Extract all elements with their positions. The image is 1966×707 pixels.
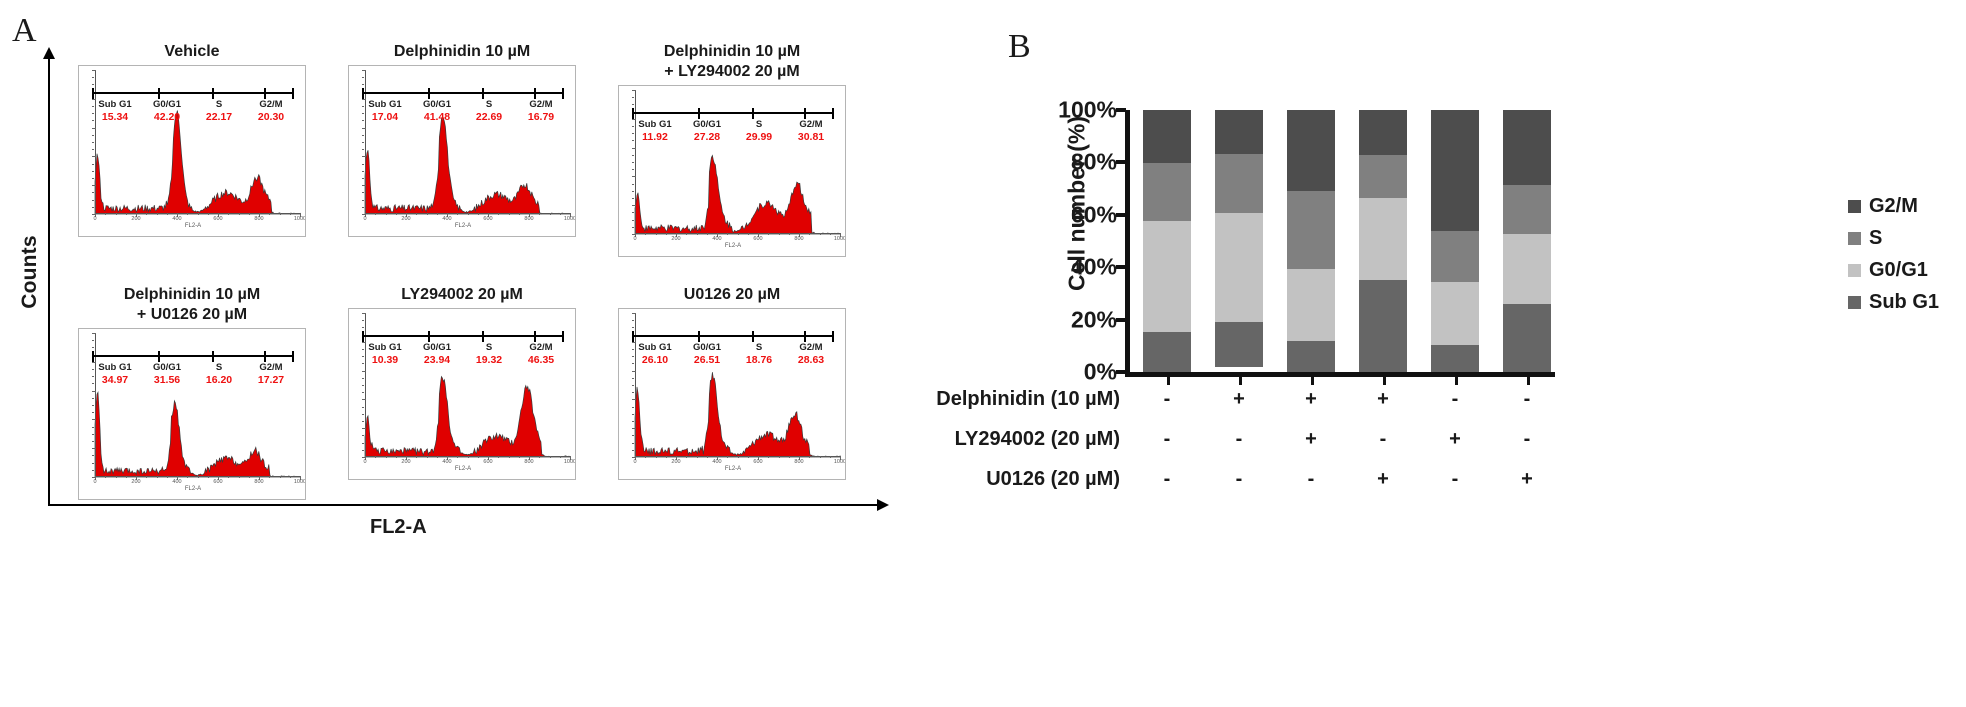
- y-minor-tick: [92, 463, 94, 464]
- bar-segment-g2-m: [1287, 110, 1335, 191]
- gate-value-row: 11.9227.2829.9930.81: [629, 131, 837, 143]
- y-minor-tick: [92, 142, 94, 143]
- histogram-title: Vehicle: [78, 42, 306, 62]
- legend-swatch-icon: [1848, 200, 1861, 213]
- gate-percentage: 16.20: [193, 374, 245, 386]
- gate-value-row: 17.0441.4822.6916.79: [359, 111, 567, 123]
- x-tick-label: 800: [794, 236, 803, 242]
- treatment-cell: -: [1143, 468, 1191, 491]
- y-axis-tick-label: 60%: [1071, 201, 1117, 228]
- stacked-bar[interactable]: [1143, 110, 1191, 372]
- y-minor-tick: [362, 450, 364, 451]
- y-minor-tick: [92, 171, 94, 172]
- bar-segment-sub-g1: [1431, 345, 1479, 372]
- bar-segment-sub-g1: [1143, 332, 1191, 372]
- gate-tick: [534, 88, 536, 99]
- y-minor-tick: [632, 378, 634, 379]
- y-axis-tick-label: 0%: [1084, 359, 1117, 386]
- x-minor-tick: [105, 476, 106, 478]
- y-minor-tick: [92, 135, 94, 136]
- gate-tick: [292, 351, 294, 362]
- stacked-bar[interactable]: [1503, 110, 1551, 372]
- inner-x-axis-title: FL2-A: [349, 466, 576, 472]
- treatment-cell: -: [1287, 468, 1335, 491]
- gate-ruler: [633, 108, 833, 117]
- x-minor-tick: [509, 456, 510, 458]
- histogram-plot: Sub G1G0/G1SG2/M10.3923.9419.3246.351008…: [348, 308, 576, 480]
- x-minor-tick: [228, 476, 229, 478]
- y-minor-tick: [362, 414, 364, 415]
- treatment-row-label: Delphinidin (10 µM): [890, 388, 1120, 411]
- x-tick-label: 1000: [564, 216, 576, 222]
- stacked-bar[interactable]: [1287, 110, 1335, 372]
- gate-tick: [804, 331, 806, 342]
- y-minor-tick: [632, 104, 634, 105]
- fl2a-axis-label: FL2-A: [370, 516, 427, 539]
- y-axis-tick-label: 20%: [1071, 306, 1117, 333]
- x-minor-tick: [249, 213, 250, 215]
- y-minor-tick: [362, 428, 366, 429]
- gate-label: G2/M: [785, 119, 837, 130]
- x-minor-tick: [666, 233, 667, 235]
- y-minor-tick: [92, 77, 94, 78]
- x-minor-tick: [519, 213, 520, 215]
- bar-segment-g0-g1: [1359, 198, 1407, 281]
- y-minor-tick: [632, 450, 634, 451]
- x-minor-tick: [509, 213, 510, 215]
- x-minor-tick: [779, 456, 780, 458]
- gate-percentage: 22.17: [193, 111, 245, 123]
- x-minor-tick: [239, 476, 240, 478]
- gate-ruler-line: [93, 355, 293, 357]
- treatment-cell: -: [1215, 428, 1263, 451]
- gate-ruler-line: [633, 335, 833, 337]
- y-minor-tick: [362, 200, 364, 201]
- histogram-title: Delphinidin 10 µM: [348, 42, 576, 62]
- x-tick-label: 0: [363, 216, 366, 222]
- x-tick-label: 200: [131, 216, 140, 222]
- y-minor-tick: [92, 149, 94, 150]
- y-minor-tick: [362, 407, 364, 408]
- histogram-panel: VehicleSub G1G0/G1SG2/M15.3442.2022.1720…: [78, 42, 306, 237]
- x-minor-tick: [768, 456, 769, 458]
- y-minor-tick: [632, 457, 636, 458]
- y-axis-tick: [1116, 318, 1126, 322]
- y-tick-label: 0: [348, 217, 350, 220]
- gate-label: G0/G1: [141, 362, 193, 373]
- x-minor-tick: [779, 233, 780, 235]
- x-tick-label: 600: [213, 216, 222, 222]
- bar-segment-g2-m: [1503, 110, 1551, 185]
- x-minor-tick: [468, 456, 469, 458]
- x-tick-label: 600: [753, 236, 762, 242]
- x-minor-tick: [187, 476, 188, 478]
- gate-percentage: 29.99: [733, 131, 785, 143]
- x-tick-label: 1000: [834, 459, 846, 465]
- x-tick-label: 1000: [294, 479, 306, 485]
- y-axis-tick: [1116, 160, 1126, 164]
- x-minor-tick: [820, 233, 821, 235]
- bar-segment-g0-g1: [1287, 269, 1335, 340]
- gate-ruler: [93, 351, 293, 360]
- y-minor-tick: [632, 371, 636, 372]
- y-minor-tick: [92, 214, 96, 215]
- bar-segment-s: [1359, 155, 1407, 197]
- legend-swatch-icon: [1848, 264, 1861, 277]
- x-tick-label: 1000: [834, 236, 846, 242]
- gate-label: S: [733, 342, 785, 353]
- x-axis-tick: [1167, 377, 1170, 385]
- x-minor-tick: [198, 213, 199, 215]
- y-tick-label: 100: [348, 316, 350, 324]
- gate-tick: [632, 331, 634, 342]
- x-tick-label: 200: [401, 216, 410, 222]
- x-minor-tick: [116, 213, 117, 215]
- y-minor-tick: [92, 128, 96, 129]
- y-minor-tick: [632, 428, 636, 429]
- x-minor-tick: [809, 456, 810, 458]
- x-tick-label: 0: [93, 479, 96, 485]
- counts-axis-label: Counts: [18, 222, 42, 322]
- gate-tick: [158, 351, 160, 362]
- x-tick-label: 800: [524, 459, 533, 465]
- x-minor-tick: [457, 213, 458, 215]
- x-tick-label: 400: [442, 216, 451, 222]
- x-tick-label: 1000: [564, 459, 576, 465]
- gate-label: G2/M: [245, 362, 297, 373]
- y-minor-tick: [632, 313, 636, 314]
- bar-segment-g2-m: [1359, 110, 1407, 155]
- y-minor-tick: [632, 97, 634, 98]
- x-minor-tick: [748, 233, 749, 235]
- treatment-cell: +: [1503, 468, 1551, 491]
- x-minor-tick: [269, 213, 270, 215]
- x-minor-tick: [686, 233, 687, 235]
- gate-percentage: 42.20: [141, 111, 193, 123]
- x-minor-tick: [146, 213, 147, 215]
- x-minor-tick: [738, 233, 739, 235]
- y-minor-tick: [632, 212, 634, 213]
- legend-label: G2/M: [1869, 195, 1918, 218]
- gate-name-row: Sub G1G0/G1SG2/M: [359, 99, 567, 110]
- legend-swatch-icon: [1848, 296, 1861, 309]
- y-minor-tick: [92, 470, 94, 471]
- legend-label: G0/G1: [1869, 259, 1928, 282]
- x-minor-tick: [386, 456, 387, 458]
- y-minor-tick: [92, 207, 94, 208]
- y-tick-label: 100: [618, 93, 620, 101]
- legend-item: G0/G1: [1848, 259, 1939, 282]
- stacked-bar-plot: 100%80%60%40%20%0%: [1125, 110, 1555, 372]
- gate-percentage: 28.63: [785, 354, 837, 366]
- y-minor-tick: [92, 427, 94, 428]
- x-minor-tick: [167, 476, 168, 478]
- gate-tick: [428, 331, 430, 342]
- gate-tick: [698, 331, 700, 342]
- bar-segment-g2-m: [1431, 110, 1479, 231]
- x-tick-label: 400: [712, 236, 721, 242]
- gate-name-row: Sub G1G0/G1SG2/M: [629, 119, 837, 130]
- y-tick-label: 0: [618, 237, 620, 240]
- gate-label: G0/G1: [141, 99, 193, 110]
- y-minor-tick: [92, 419, 96, 420]
- gate-percentage: 10.39: [359, 354, 411, 366]
- gate-tick: [482, 331, 484, 342]
- y-minor-tick: [92, 391, 96, 392]
- x-tick-label: 600: [213, 479, 222, 485]
- y-minor-tick: [362, 385, 364, 386]
- x-tick-label: 400: [442, 459, 451, 465]
- y-axis-tick: [1116, 265, 1126, 269]
- x-minor-tick: [707, 233, 708, 235]
- x-minor-tick: [768, 233, 769, 235]
- gate-percentage: 34.97: [89, 374, 141, 386]
- y-minor-tick: [92, 340, 94, 341]
- y-minor-tick: [362, 135, 364, 136]
- gate-tick: [482, 88, 484, 99]
- x-tick-label: 800: [254, 216, 263, 222]
- gate-label: G0/G1: [681, 342, 733, 353]
- gate-label: S: [463, 99, 515, 110]
- x-minor-tick: [126, 476, 127, 478]
- bar-segment-g0-g1: [1431, 282, 1479, 345]
- x-tick-label: 1000: [294, 216, 306, 222]
- gate-ruler-line: [363, 92, 563, 94]
- bar-segment-g0-g1: [1215, 213, 1263, 322]
- treatment-cell: -: [1431, 468, 1479, 491]
- legend-swatch-icon: [1848, 232, 1861, 245]
- x-minor-tick: [280, 213, 281, 215]
- y-minor-tick: [632, 184, 634, 185]
- x-minor-tick: [789, 233, 790, 235]
- y-minor-tick: [92, 70, 96, 71]
- y-minor-tick: [632, 327, 634, 328]
- gate-label: G0/G1: [681, 119, 733, 130]
- bar-segment-s: [1287, 191, 1335, 270]
- y-minor-tick: [362, 371, 366, 372]
- gate-tick: [362, 331, 364, 342]
- x-minor-tick: [498, 213, 499, 215]
- legend-item: Sub G1: [1848, 291, 1939, 314]
- gate-name-row: Sub G1G0/G1SG2/M: [359, 342, 567, 353]
- gate-percentage: 27.28: [681, 131, 733, 143]
- y-minor-tick: [632, 385, 634, 386]
- x-minor-tick: [157, 476, 158, 478]
- x-minor-tick: [707, 456, 708, 458]
- gate-tick: [292, 88, 294, 99]
- counts-axis-arrow: [48, 58, 50, 506]
- y-minor-tick: [362, 171, 364, 172]
- gate-tick: [92, 88, 94, 99]
- gate-tick: [158, 88, 160, 99]
- y-tick-label: 0: [618, 460, 620, 463]
- gate-percentage: 41.48: [411, 111, 463, 123]
- y-tick-label: 100: [78, 73, 80, 81]
- y-minor-tick: [92, 164, 94, 165]
- gate-label: S: [193, 99, 245, 110]
- y-minor-tick: [362, 70, 366, 71]
- panel-b-bar-chart: Cell number (%) 100%80%60%40%20%0%: [1000, 0, 1966, 707]
- x-tick-label: 400: [172, 216, 181, 222]
- y-minor-tick: [362, 214, 366, 215]
- stacked-bar[interactable]: [1359, 110, 1407, 372]
- inner-x-axis-title: FL2-A: [619, 243, 846, 249]
- treatment-cell: +: [1287, 428, 1335, 451]
- y-minor-tick: [92, 448, 96, 449]
- histogram-title: Delphinidin 10 µM + LY294002 20 µM: [618, 42, 846, 82]
- x-tick-label: 800: [524, 216, 533, 222]
- y-minor-tick: [632, 399, 636, 400]
- x-minor-tick: [697, 456, 698, 458]
- x-tick-label: 200: [401, 459, 410, 465]
- treatment-cell: +: [1431, 428, 1479, 451]
- treatment-cell: -: [1143, 388, 1191, 411]
- x-minor-tick: [560, 456, 561, 458]
- gate-label: G0/G1: [411, 342, 463, 353]
- y-minor-tick: [362, 178, 364, 179]
- x-minor-tick: [375, 213, 376, 215]
- y-minor-tick: [362, 192, 364, 193]
- y-minor-tick: [362, 392, 364, 393]
- x-minor-tick: [478, 456, 479, 458]
- y-minor-tick: [632, 407, 634, 408]
- y-minor-tick: [632, 421, 634, 422]
- gate-tick: [264, 88, 266, 99]
- gate-label: S: [463, 342, 515, 353]
- y-minor-tick: [632, 198, 634, 199]
- y-minor-tick: [362, 399, 366, 400]
- y-minor-tick: [632, 414, 634, 415]
- y-minor-tick: [362, 443, 364, 444]
- legend-label: Sub G1: [1869, 291, 1939, 314]
- histogram-panel: Delphinidin 10 µM + U0126 20 µMSub G1G0/…: [78, 285, 306, 500]
- x-minor-tick: [167, 213, 168, 215]
- y-minor-tick: [92, 398, 94, 399]
- x-tick-label: 0: [633, 459, 636, 465]
- x-minor-tick: [157, 213, 158, 215]
- treatment-cell: -: [1143, 428, 1191, 451]
- gate-label: G2/M: [245, 99, 297, 110]
- bar-segment-g2-m: [1215, 110, 1263, 154]
- y-minor-tick: [362, 378, 364, 379]
- treatment-cell: -: [1503, 388, 1551, 411]
- x-tick-label: 0: [363, 459, 366, 465]
- histogram-title: U0126 20 µM: [618, 285, 846, 305]
- y-tick-label: 100: [618, 316, 620, 324]
- treatment-row-label: LY294002 (20 µM): [890, 428, 1120, 451]
- gate-percentage: 20.30: [245, 111, 297, 123]
- gate-tick: [92, 351, 94, 362]
- x-axis-tick: [1239, 377, 1242, 385]
- y-minor-tick: [632, 234, 636, 235]
- gate-percentage: 30.81: [785, 131, 837, 143]
- gate-percentage: 46.35: [515, 354, 567, 366]
- gate-tick: [362, 88, 364, 99]
- gate-ruler-line: [633, 112, 833, 114]
- x-minor-tick: [290, 213, 291, 215]
- y-minor-tick: [362, 77, 364, 78]
- x-minor-tick: [519, 456, 520, 458]
- y-minor-tick: [632, 220, 634, 221]
- legend-label: S: [1869, 227, 1882, 250]
- treatment-cell: +: [1215, 388, 1263, 411]
- inner-x-axis-title: FL2-A: [79, 486, 306, 492]
- y-tick-label: 0: [78, 217, 80, 220]
- y-minor-tick: [632, 191, 634, 192]
- y-minor-tick: [362, 457, 366, 458]
- y-minor-tick: [362, 421, 364, 422]
- x-minor-tick: [550, 213, 551, 215]
- y-tick-label: 0: [78, 480, 80, 483]
- bar-segment-sub-g1: [1215, 322, 1263, 367]
- gate-percentage: 23.94: [411, 354, 463, 366]
- treatment-cell: +: [1287, 388, 1335, 411]
- bar-segment-sub-g1: [1503, 304, 1551, 372]
- gate-label: G2/M: [515, 99, 567, 110]
- gate-percentage: 17.04: [359, 111, 411, 123]
- histogram-panel: Delphinidin 10 µMSub G1G0/G1SG2/M17.0441…: [348, 42, 576, 237]
- x-tick-label: 0: [93, 216, 96, 222]
- x-minor-tick: [550, 456, 551, 458]
- gate-tick: [562, 331, 564, 342]
- x-axis-tick: [1383, 377, 1386, 385]
- x-minor-tick: [416, 456, 417, 458]
- gate-label: G0/G1: [411, 99, 463, 110]
- gate-label: Sub G1: [89, 99, 141, 110]
- y-minor-tick: [92, 333, 96, 334]
- gate-tick: [428, 88, 430, 99]
- treatment-cell: -: [1215, 468, 1263, 491]
- x-minor-tick: [427, 456, 428, 458]
- x-minor-tick: [290, 476, 291, 478]
- gate-tick: [264, 351, 266, 362]
- legend-item: G2/M: [1848, 195, 1939, 218]
- y-minor-tick: [92, 200, 94, 201]
- inner-x-axis-title: FL2-A: [349, 223, 576, 229]
- x-tick-label: 600: [753, 459, 762, 465]
- treatment-cell: -: [1359, 428, 1407, 451]
- y-axis-tick-label: 40%: [1071, 254, 1117, 281]
- stacked-bar[interactable]: [1215, 110, 1263, 372]
- gate-tick: [698, 108, 700, 119]
- x-axis-tick: [1455, 377, 1458, 385]
- x-minor-tick: [437, 213, 438, 215]
- x-minor-tick: [208, 476, 209, 478]
- y-axis-tick: [1116, 108, 1126, 112]
- treatment-cell: -: [1503, 428, 1551, 451]
- gate-percentage: 31.56: [141, 374, 193, 386]
- treatment-cell: +: [1359, 468, 1407, 491]
- inner-x-axis-title: FL2-A: [619, 466, 846, 472]
- y-minor-tick: [632, 320, 634, 321]
- y-minor-tick: [92, 405, 94, 406]
- legend-item: S: [1848, 227, 1939, 250]
- x-axis-line: [1125, 372, 1555, 377]
- stacked-bar[interactable]: [1431, 110, 1479, 372]
- x-tick-label: 800: [254, 479, 263, 485]
- x-tick-label: 200: [671, 236, 680, 242]
- y-minor-tick: [362, 327, 364, 328]
- x-minor-tick: [375, 456, 376, 458]
- y-minor-tick: [362, 313, 366, 314]
- histogram-plot: Sub G1G0/G1SG2/M17.0441.4822.6916.791008…: [348, 65, 576, 237]
- treatment-row-label: U0126 (20 µM): [890, 468, 1120, 491]
- x-minor-tick: [116, 476, 117, 478]
- gate-percentage: 26.51: [681, 354, 733, 366]
- y-minor-tick: [92, 192, 94, 193]
- bar-segment-g2-m: [1143, 110, 1191, 163]
- x-minor-tick: [697, 233, 698, 235]
